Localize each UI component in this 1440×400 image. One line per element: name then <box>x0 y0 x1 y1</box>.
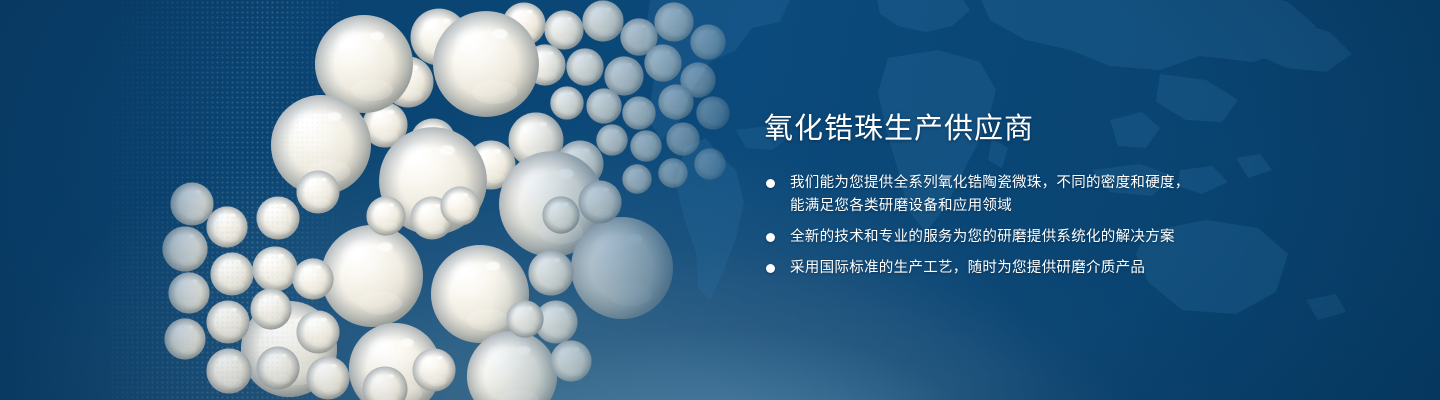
bullet-dot-icon <box>766 233 775 242</box>
hero-banner: 氧化锆珠生产供应商 我们能为您提供全系列氧化锆陶瓷微珠，不同的密度和硬度， 能满… <box>0 0 1440 400</box>
bullet-dot-icon <box>766 179 775 188</box>
list-item: 全新的技术和专业的服务为您的研磨提供系统化的解决方案 <box>764 226 1364 249</box>
bullet-line: 我们能为您提供全系列氧化锆陶瓷微珠，不同的密度和硬度， <box>790 172 1364 195</box>
bullet-line: 采用国际标准的生产工艺，随时为您提供研磨介质产品 <box>790 257 1364 280</box>
page-title: 氧化锆珠生产供应商 <box>764 108 1364 148</box>
list-item: 我们能为您提供全系列氧化锆陶瓷微珠，不同的密度和硬度， 能满足您各类研磨设备和应… <box>764 172 1364 218</box>
feature-bullet-list: 我们能为您提供全系列氧化锆陶瓷微珠，不同的密度和硬度， 能满足您各类研磨设备和应… <box>764 172 1364 280</box>
banner-copy: 氧化锆珠生产供应商 我们能为您提供全系列氧化锆陶瓷微珠，不同的密度和硬度， 能满… <box>764 108 1364 280</box>
zirconia-beads-photo <box>110 0 730 400</box>
bullet-line: 全新的技术和专业的服务为您的研磨提供系统化的解决方案 <box>790 226 1364 249</box>
list-item: 采用国际标准的生产工艺，随时为您提供研磨介质产品 <box>764 257 1364 280</box>
bullet-line: 能满足您各类研磨设备和应用领域 <box>790 195 1364 218</box>
bullet-dot-icon <box>766 264 775 273</box>
